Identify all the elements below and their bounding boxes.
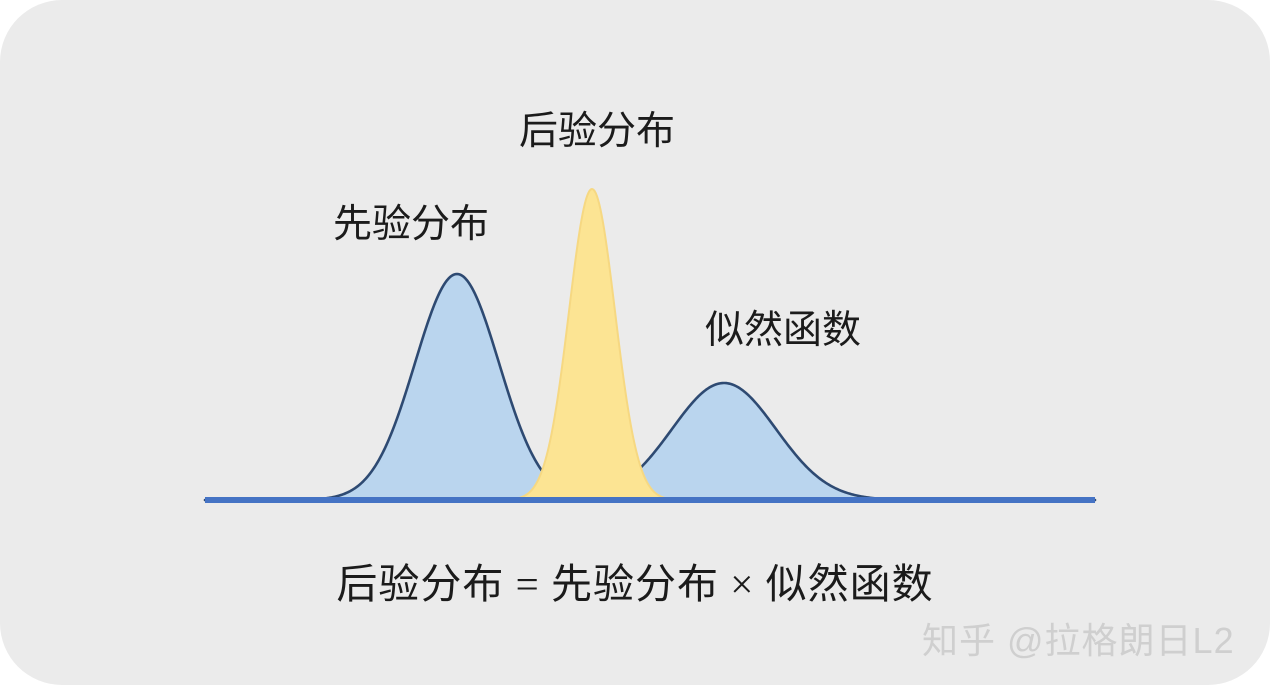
label-likelihood: 似然函数 bbox=[705, 311, 861, 350]
figure-canvas: 先验分布 后验分布 似然函数 后验分布 = 先验分布 × 似然函数 知乎 @拉格… bbox=[0, 0, 1270, 685]
label-prior: 先验分布 bbox=[333, 205, 489, 244]
formula-caption: 后验分布 = 先验分布 × 似然函数 bbox=[0, 550, 1270, 610]
watermark: 知乎 @拉格朗日L2 bbox=[922, 612, 1235, 664]
rounded-panel: 先验分布 后验分布 似然函数 后验分布 = 先验分布 × 似然函数 知乎 @拉格… bbox=[0, 0, 1270, 685]
label-posterior: 后验分布 bbox=[519, 112, 675, 151]
